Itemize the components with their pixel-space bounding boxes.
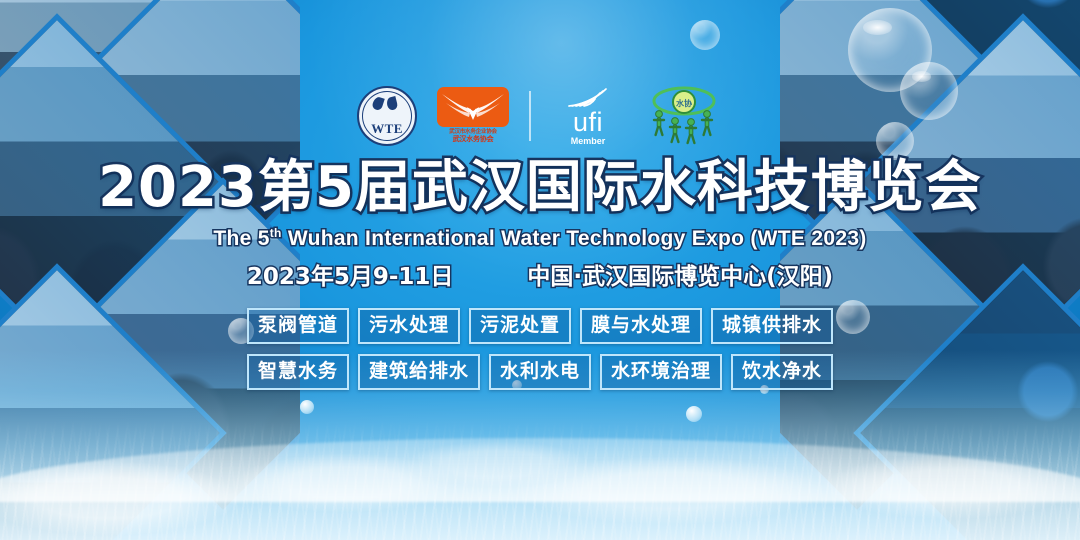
water-drop-icon [359,97,415,113]
category-tags: 泵阀管道 污水处理 污泥处置 膜与水处理 城镇供排水 智慧水务 建筑给排水 水利… [0,308,1080,390]
category-tag[interactable]: 城镇供排水 [711,308,833,344]
category-tag[interactable]: 泵阀管道 [247,308,349,344]
wte-logo: WTE [357,86,417,146]
ordinal-suffix: th [270,226,282,240]
subtitle-prefix: The 5 [213,227,269,250]
page-title: 2023第5届武汉国际水科技博览会 [0,160,1080,216]
wte-logo-text: WTE [359,122,415,135]
event-date: 2023年5月9-11日 [247,266,454,289]
category-tag[interactable]: 水环境治理 [600,354,722,390]
category-tag[interactable]: 膜与水处理 [580,308,702,344]
wing-emblem-icon [437,87,509,127]
category-tag[interactable]: 智慧水务 [247,354,349,390]
ufi-logo-text: ufi [551,109,625,136]
category-tag-row-1: 泵阀管道 污水处理 污泥处置 膜与水处理 城镇供排水 [0,308,1080,344]
logo-row: WTE 武汉市水务企业协会 武 [0,78,1080,154]
ufi-swoosh-icon [566,87,610,109]
category-tag-row-2: 智慧水务 建筑给排水 水利水电 水环境治理 饮水净水 [0,354,1080,390]
banner-content: WTE 武汉市水务企业协会 武 [0,0,1080,400]
page-subtitle: The 5th Wuhan International Water Techno… [0,227,1080,249]
category-tag[interactable]: 水利水电 [489,354,591,390]
category-tag[interactable]: 饮水净水 [731,354,833,390]
expo-banner: WTE 武汉市水务企业协会 武 [0,0,1080,540]
subtitle-suffix: Wuhan International Water Technology Exp… [282,227,867,250]
category-tag[interactable]: 污水处理 [358,308,460,344]
category-tag[interactable]: 建筑给排水 [358,354,480,390]
logo-divider [529,91,531,141]
ufi-member-label: Member [551,137,625,146]
svg-text:水协: 水协 [675,98,692,108]
event-meta: 2023年5月9-11日 中国·武汉国际博览中心(汉阳) [0,266,1080,289]
ufi-member-logo: ufi Member [551,87,625,146]
event-venue: 中国·武汉国际博览中心(汉阳) [527,266,833,289]
category-tag[interactable]: 污泥处置 [469,308,571,344]
wuhan-water-association-caption: 武汉市水务企业协会 武汉水务协会 [437,129,509,145]
green-association-logo: 水协 [645,85,723,147]
wuhan-water-association-logo: 武汉市水务企业协会 武汉水务协会 [437,87,509,145]
association-cn-line2: 武汉水务协会 [437,136,509,145]
